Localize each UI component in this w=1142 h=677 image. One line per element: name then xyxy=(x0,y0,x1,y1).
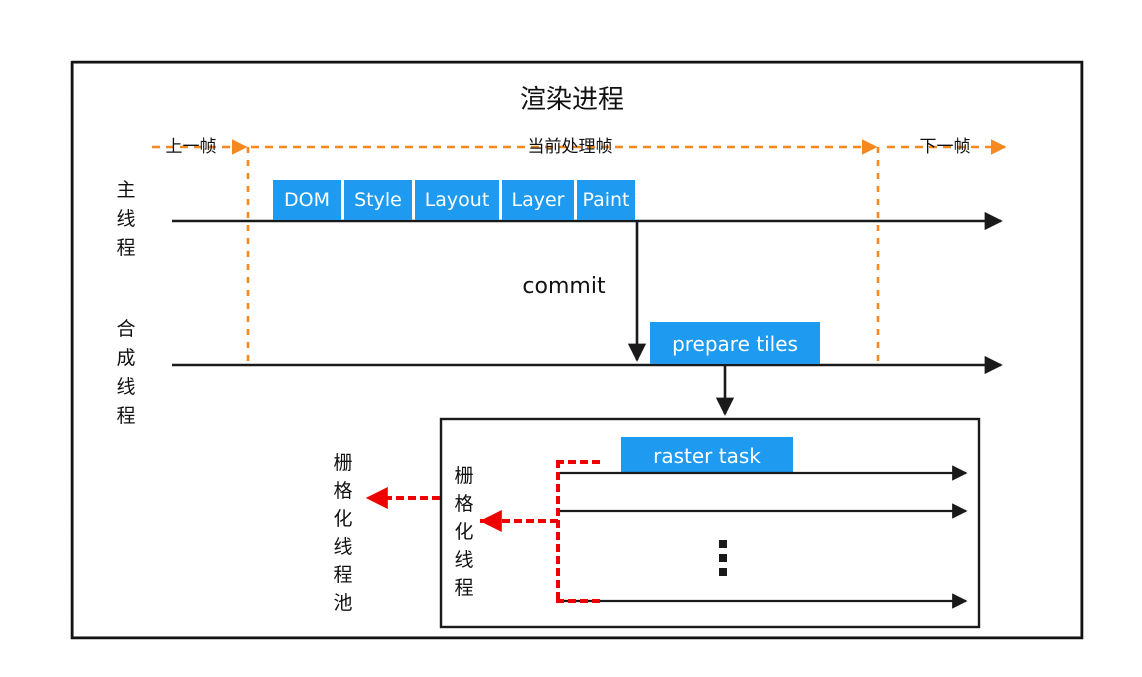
compositor-thread-char-0: 合 xyxy=(116,318,135,340)
compositor-thread-char-1: 成 xyxy=(116,347,135,369)
raster-pool-char-0: 栅 xyxy=(333,452,352,474)
raster-pool-char-2: 化 xyxy=(333,508,352,530)
raster-thread-container: raster task 栅 格 化 xyxy=(441,419,979,627)
diagram-canvas: 渲染进程 上一帧 当前处理帧 下一帧 主 线 程 合 成 xyxy=(0,0,1142,677)
diagram-title: 渲染进程 xyxy=(520,85,624,115)
raster-task-box[interactable]: raster task xyxy=(621,437,793,473)
stage-box-dom[interactable]: DOM xyxy=(273,180,341,220)
raster-thread-bracket xyxy=(482,462,600,601)
current-frame-label: 当前处理帧 xyxy=(528,137,613,157)
compositor-thread-char-2: 线 xyxy=(116,376,135,398)
main-thread-stage-boxes: DOM Style Layout Layer Paint xyxy=(273,180,635,220)
raster-pool-label: 栅 格 化 线 程 池 xyxy=(333,452,352,614)
raster-thread-char-4: 程 xyxy=(454,577,473,599)
raster-thread-char-1: 格 xyxy=(454,493,473,515)
stage-box-layer[interactable]: Layer xyxy=(502,180,574,220)
stage-box-layout-label: Layout xyxy=(425,189,490,211)
compositor-thread-lane-label: 合 成 线 程 xyxy=(116,318,135,427)
stage-box-paint[interactable]: Paint xyxy=(577,180,635,220)
compositor-thread-char-3: 程 xyxy=(116,405,135,427)
raster-worker-ellipsis xyxy=(719,540,727,576)
commit-label: commit xyxy=(522,274,606,299)
raster-task-label: raster task xyxy=(653,444,761,468)
raster-thread-char-3: 线 xyxy=(454,549,473,571)
raster-pool-char-3: 线 xyxy=(333,536,352,558)
stage-box-style-label: Style xyxy=(354,189,402,211)
raster-thread-label: 栅 格 化 线 程 xyxy=(454,465,473,599)
next-frame-label: 下一帧 xyxy=(920,137,971,157)
stage-box-layer-label: Layer xyxy=(512,189,565,211)
frame-marker-row: 上一帧 当前处理帧 下一帧 xyxy=(152,133,1005,157)
main-thread-lane-label: 主 线 程 xyxy=(116,179,135,259)
main-thread-char-1: 线 xyxy=(116,208,135,230)
raster-pool-char-5: 池 xyxy=(333,592,352,614)
raster-thread-char-0: 栅 xyxy=(454,465,473,487)
raster-pool-char-1: 格 xyxy=(333,480,352,502)
stage-box-style[interactable]: Style xyxy=(344,180,412,220)
stage-box-paint-label: Paint xyxy=(582,189,629,211)
prepare-tiles-box[interactable]: prepare tiles xyxy=(650,322,820,364)
stage-box-layout[interactable]: Layout xyxy=(415,180,499,220)
commit-arrow-group: commit xyxy=(522,221,637,360)
stage-box-dom-label: DOM xyxy=(284,189,330,211)
main-thread-char-0: 主 xyxy=(116,179,135,201)
raster-pool-char-4: 程 xyxy=(333,564,352,586)
main-thread-char-2: 程 xyxy=(116,237,135,259)
prev-frame-label: 上一帧 xyxy=(166,137,217,157)
prepare-tiles-label: prepare tiles xyxy=(672,332,798,356)
raster-thread-char-2: 化 xyxy=(454,521,473,543)
